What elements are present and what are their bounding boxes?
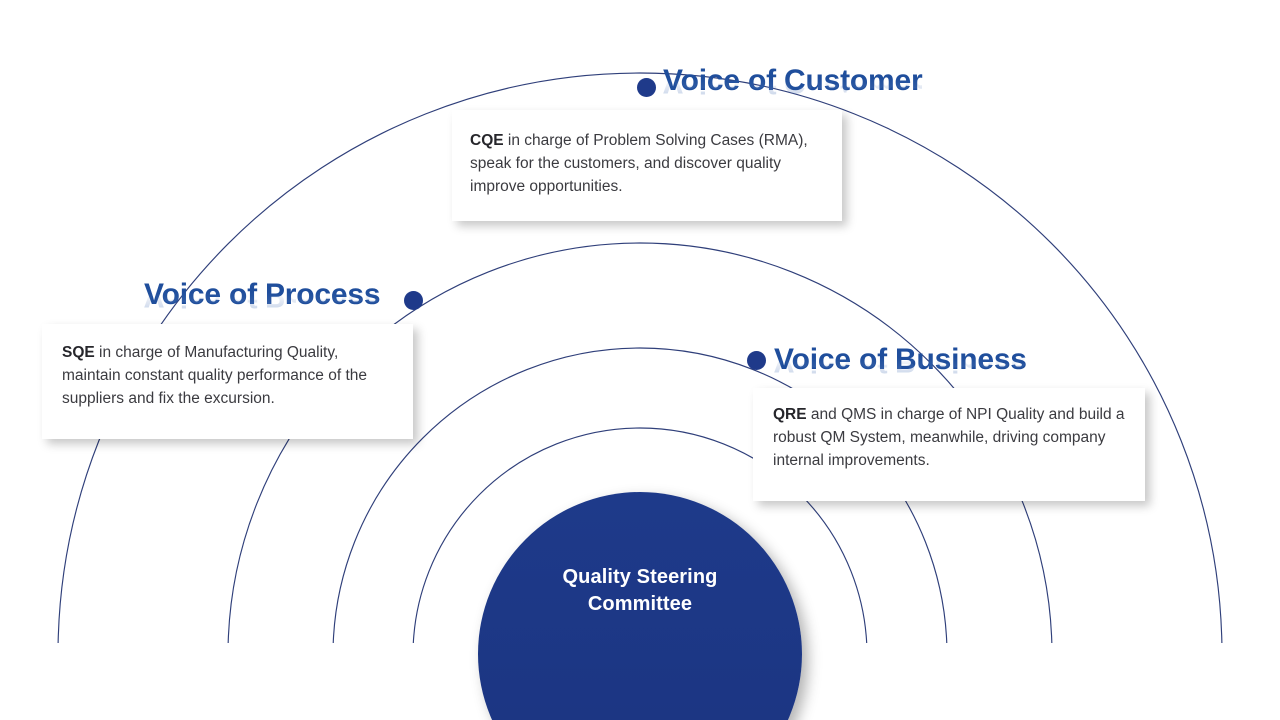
callout-voice-of-process: SQE in charge of Manufacturing Quality, …: [42, 324, 413, 439]
callout-voice-of-customer: CQE in charge of Problem Solving Cases (…: [452, 110, 842, 221]
node-dot-voice-of-business[interactable]: [747, 351, 766, 370]
callout-lead: QRE: [773, 406, 807, 423]
callout-lead: CQE: [470, 132, 504, 149]
ring-title-text: Voice of Business: [774, 345, 1027, 376]
callout-text: SQE in charge of Manufacturing Quality, …: [62, 342, 393, 411]
ring-title-text: Voice of Process: [144, 280, 380, 311]
callout-body: in charge of Problem Solving Cases (RMA)…: [470, 132, 808, 195]
center-hub-label: Quality Steering Committee: [515, 564, 765, 618]
callout-text: QRE and QMS in charge of NPI Quality and…: [773, 404, 1125, 473]
node-dot-voice-of-customer[interactable]: [637, 78, 656, 97]
node-dot-voice-of-process[interactable]: [404, 291, 423, 310]
callout-lead: SQE: [62, 344, 95, 361]
ring-title-text: Voice of Customer: [663, 66, 922, 97]
callout-text: CQE in charge of Problem Solving Cases (…: [470, 130, 820, 199]
callout-body: and QMS in charge of NPI Quality and bui…: [773, 406, 1125, 469]
callout-voice-of-business: QRE and QMS in charge of NPI Quality and…: [753, 388, 1145, 501]
callout-body: in charge of Manufacturing Quality, main…: [62, 344, 367, 407]
ring-title-voice-of-business: Voice of Business Voice of Business: [774, 345, 1027, 398]
diagram-canvas: Quality Steering Committee Voice of Cust…: [0, 0, 1280, 720]
ring-title-voice-of-process: Voice of Process Voice of Process: [144, 280, 380, 333]
ring-title-voice-of-customer: Voice of Customer Voice of Customer: [663, 66, 922, 119]
